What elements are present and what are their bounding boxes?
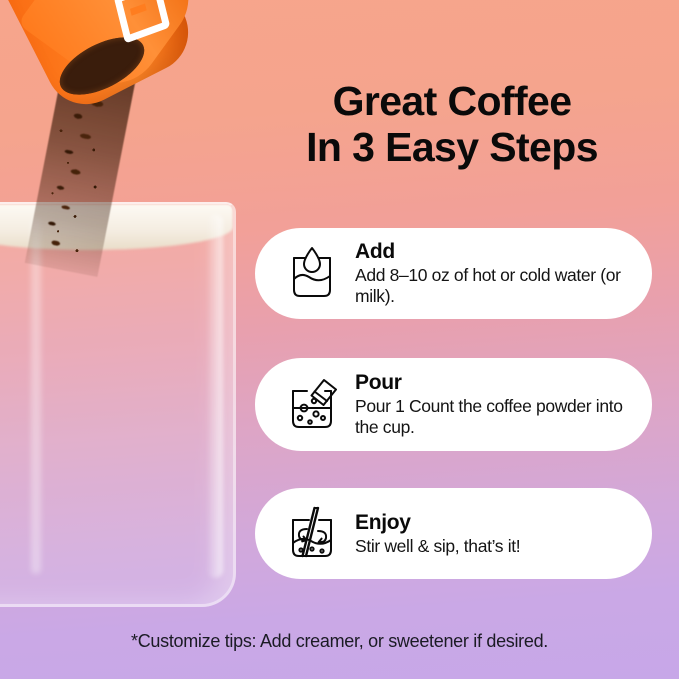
step-description: Add 8–10 oz of hot or cold water (or mil… [355,265,634,307]
cup-water-drop-icon [285,245,339,303]
step-card-enjoy[interactable]: Enjoy Stir well & sip, that’s it! [255,488,652,579]
step-description: Pour 1 Count the coffee powder into the … [355,396,634,438]
cup-stir-straw-icon [285,505,339,563]
step-card-pour[interactable]: Pour Pour 1 Count the coffee powder into… [255,358,652,451]
infographic-canvas: Great Coffee In 3 Easy Steps Add Add 8–1… [0,0,679,679]
headline-line-1: Great Coffee [333,78,572,124]
step-card-add[interactable]: Add Add 8–10 oz of hot or cold water (or… [255,228,652,319]
step-title: Pour [355,371,634,394]
step-text-add: Add Add 8–10 oz of hot or cold water (or… [355,240,634,307]
footnote-text: *Customize tips: Add creamer, or sweeten… [0,631,679,652]
step-description: Stir well & sip, that’s it! [355,536,634,557]
cup-pour-packet-icon [285,376,339,434]
glass-highlight-right [207,214,223,578]
page-title: Great Coffee In 3 Easy Steps [250,78,654,170]
headline-line-2: In 3 Easy Steps [250,124,654,170]
step-title: Enjoy [355,511,634,534]
step-text-enjoy: Enjoy Stir well & sip, that’s it! [355,511,634,557]
product-photo [0,0,250,620]
glass-highlight-left [31,218,41,574]
step-text-pour: Pour Pour 1 Count the coffee powder into… [355,371,634,438]
step-title: Add [355,240,634,263]
